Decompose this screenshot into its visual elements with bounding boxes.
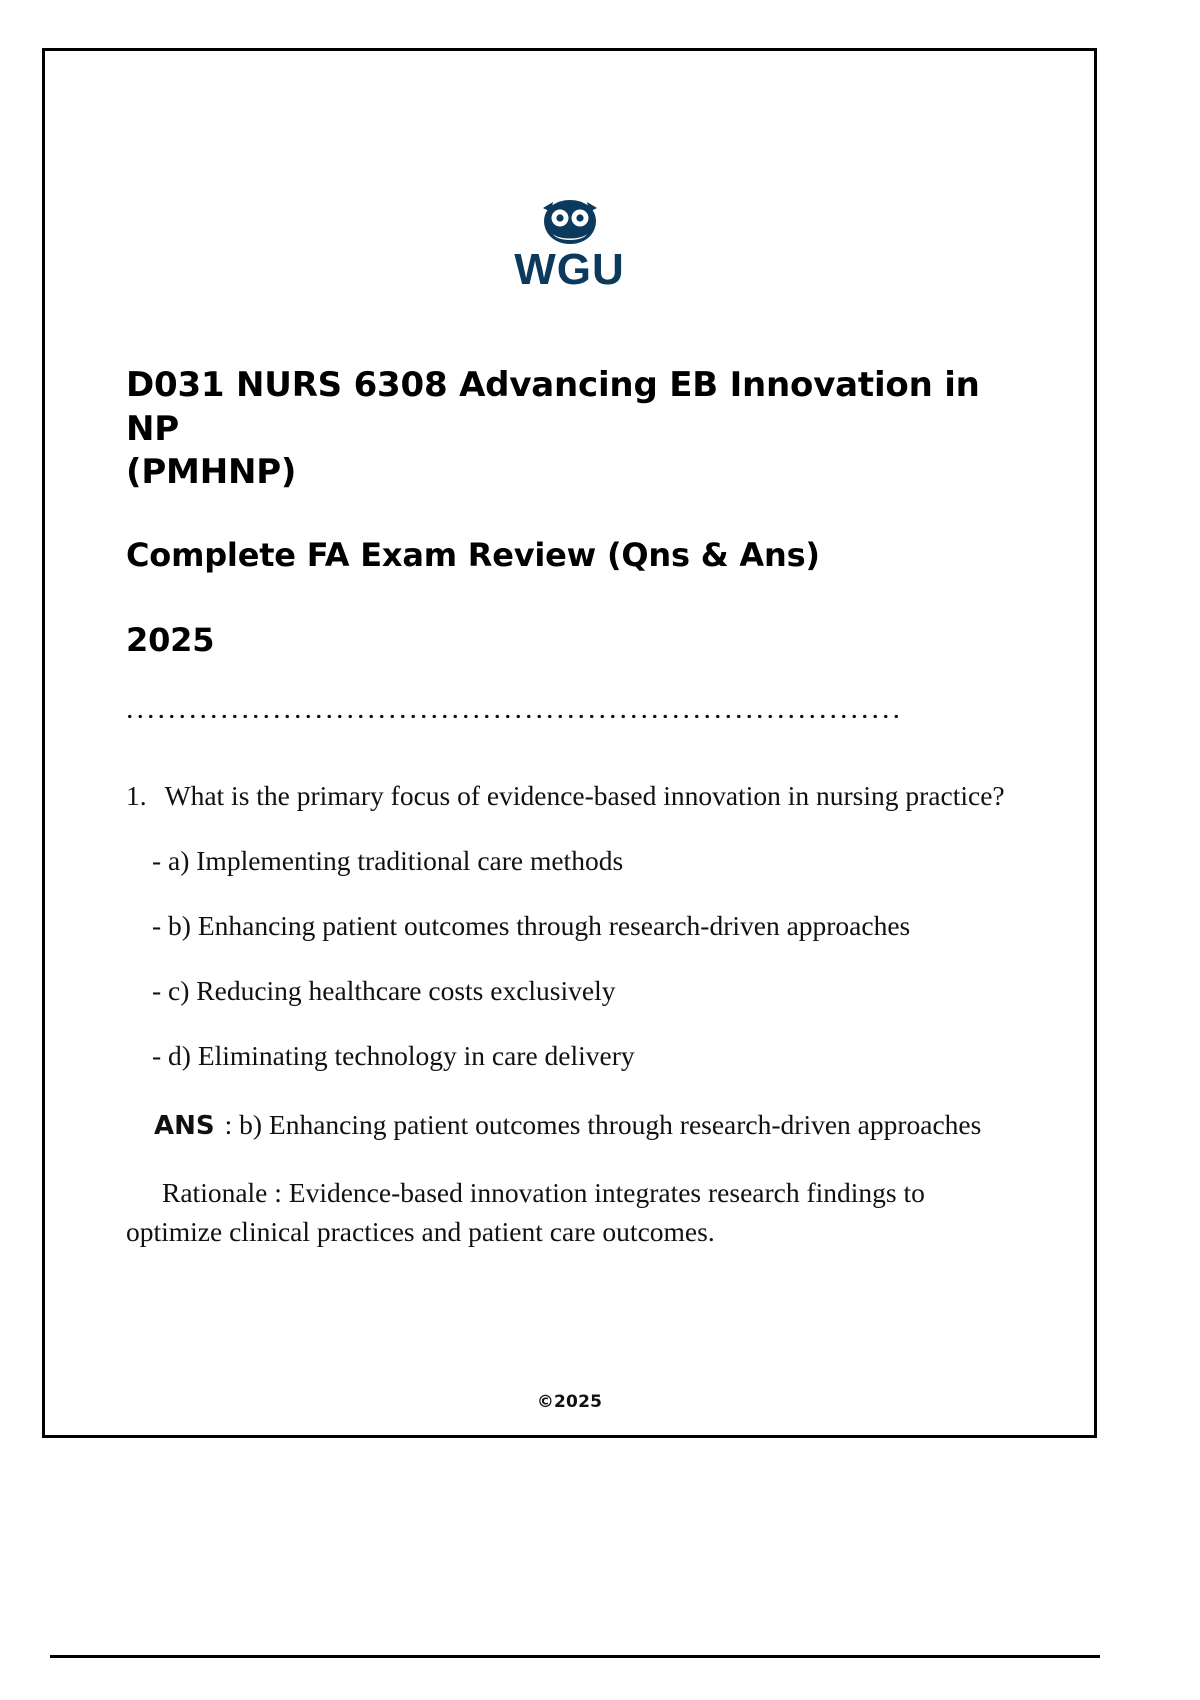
dotted-separator: ........................................… — [126, 700, 1013, 718]
answer-separator: : — [225, 1109, 233, 1140]
option-d-text: - d) Eliminating technology in care deli… — [126, 1040, 635, 1071]
answer-line: ANS: b) Enhancing patient outcomes throu… — [126, 1105, 1013, 1145]
page-title-line-1: D031 NURS 6308 Advancing EB Innovation i… — [126, 365, 980, 449]
question-block: 1.What is the primary focus of evidence-… — [126, 776, 1013, 1251]
wgu-logo: WGU — [126, 198, 1013, 292]
option-c: - c) Reducing healthcare costs exclusive… — [126, 971, 1013, 1010]
page-footer: ©2025 — [42, 1392, 1097, 1412]
question-stem: 1.What is the primary focus of evidence-… — [126, 776, 1013, 815]
rationale-line: Rationale : Evidence-based innovation in… — [126, 1173, 1013, 1251]
option-d: - d) Eliminating technology in care deli… — [126, 1036, 1013, 1075]
option-c-text: - c) Reducing healthcare costs exclusive… — [126, 975, 616, 1006]
page-subtitle: Complete FA Exam Review (Qns & Ans) — [126, 535, 1013, 577]
rationale-label: Rationale : — [126, 1177, 282, 1208]
owl-icon — [539, 198, 601, 246]
option-b-text: - b) Enhancing patient outcomes through … — [126, 910, 910, 941]
wgu-wordmark: WGU — [126, 248, 1013, 292]
page-year: 2025 — [126, 620, 1013, 662]
option-a: - a) Implementing traditional care metho… — [126, 841, 1013, 880]
page-title-line-2: (PMHNP) — [126, 452, 296, 492]
question-stem-text: What is the primary focus of evidence-ba… — [165, 780, 1005, 811]
document-page: WGU D031 NURS 6308 Advancing EB Innovati… — [42, 48, 1097, 1438]
answer-text: b) Enhancing patient outcomes through re… — [239, 1109, 981, 1140]
answer-label: ANS — [154, 1111, 215, 1141]
page-title: D031 NURS 6308 Advancing EB Innovation i… — [126, 364, 1013, 495]
option-b: - b) Enhancing patient outcomes through … — [126, 906, 1013, 945]
next-page-top-edge — [50, 1655, 1100, 1658]
option-a-text: - a) Implementing traditional care metho… — [126, 845, 623, 876]
question-number: 1. — [126, 780, 147, 811]
